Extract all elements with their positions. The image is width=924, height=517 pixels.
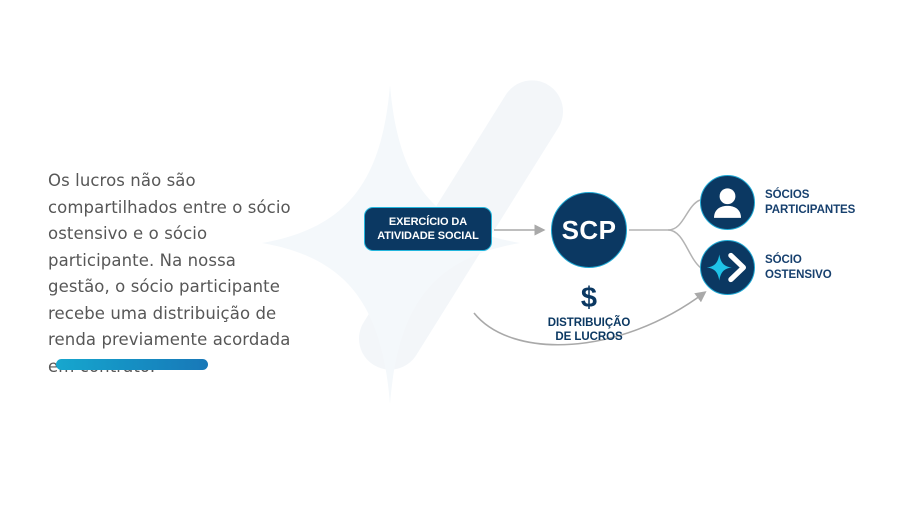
exercise-activity-box[interactable]: EXERCÍCIO DA ATIVIDADE SOCIAL — [364, 207, 492, 251]
scp-label: SCP — [562, 215, 617, 246]
dollar-icon: $ — [508, 282, 670, 314]
connector-fork-upper — [668, 200, 700, 230]
diagram: EXERCÍCIO DA ATIVIDADE SOCIAL SCP $ DIST… — [0, 0, 924, 517]
partner-label-participantes: SÓCIOS PARTICIPANTES — [765, 188, 855, 217]
partner-socios-participantes[interactable]: SÓCIOS PARTICIPANTES — [700, 175, 855, 230]
person-icon-circle — [700, 175, 755, 230]
slide-canvas: Os lucros não são compartilhados entre o… — [0, 0, 924, 517]
distribution-label: DISTRIBUIÇÃO DE LUCROS — [508, 316, 670, 344]
sparkle-chevron-icon-circle — [700, 240, 755, 295]
connector-fork-lower — [668, 230, 701, 268]
exercise-activity-label: EXERCÍCIO DA ATIVIDADE SOCIAL — [377, 215, 478, 243]
partner-socio-ostensivo[interactable]: SÓCIO OSTENSIVO — [700, 240, 832, 295]
sparkle-chevron-icon — [701, 241, 754, 294]
distribution-group: $ DISTRIBUIÇÃO DE LUCROS — [508, 282, 670, 344]
person-icon — [701, 176, 754, 229]
scp-node[interactable]: SCP — [551, 192, 627, 268]
partner-label-ostensivo: SÓCIO OSTENSIVO — [765, 253, 832, 282]
